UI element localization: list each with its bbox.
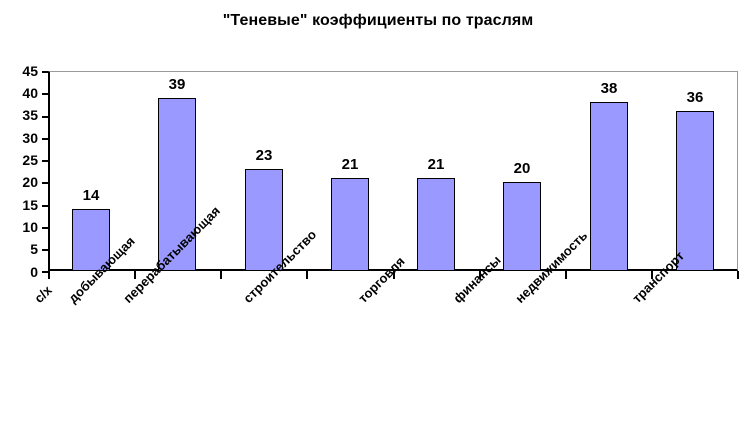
x-tick-mark <box>306 271 308 279</box>
y-tick-label: 20 <box>0 175 38 189</box>
y-tick-mark <box>42 205 48 207</box>
y-tick-mark <box>42 182 48 184</box>
y-tick-mark <box>42 227 48 229</box>
y-tick-label: 35 <box>0 108 38 122</box>
bar-value-label: 23 <box>234 148 294 163</box>
bar-value-label: 36 <box>665 90 725 105</box>
bar-7 <box>590 102 628 271</box>
bar-value-label: 20 <box>492 161 552 176</box>
bar-6 <box>503 182 541 271</box>
chart-title: "Теневые" коэффициенты по траслям <box>0 12 756 30</box>
y-tick-mark <box>42 116 48 118</box>
bar-value-label: 39 <box>147 77 207 92</box>
y-tick-label: 5 <box>0 242 38 256</box>
bar-4 <box>331 178 369 271</box>
chart-container: "Теневые" коэффициенты по траслям 45 40 … <box>0 0 756 444</box>
bar-5 <box>417 178 455 271</box>
x-tick-mark <box>565 271 567 279</box>
y-tick-mark <box>42 71 48 73</box>
bar-value-label: 14 <box>61 188 121 203</box>
x-tick-mark <box>737 271 739 279</box>
bar-value-label: 21 <box>320 157 380 172</box>
y-tick-label: 15 <box>0 198 38 212</box>
y-tick-label: 40 <box>0 86 38 100</box>
y-axis: 45 40 35 30 25 20 15 10 5 0 <box>0 0 44 444</box>
x-tick-mark <box>220 271 222 279</box>
y-tick-label: 25 <box>0 153 38 167</box>
x-tick-mark <box>134 271 136 279</box>
y-tick-mark <box>42 249 48 251</box>
bar-value-label: 38 <box>579 81 639 96</box>
y-tick-label: 30 <box>0 131 38 145</box>
y-tick-label: 45 <box>0 64 38 78</box>
bar-8 <box>676 111 714 271</box>
y-tick-label: 0 <box>0 265 38 279</box>
y-tick-mark <box>42 93 48 95</box>
y-tick-label: 10 <box>0 220 38 234</box>
x-tick-mark <box>48 271 50 279</box>
y-tick-mark <box>42 138 48 140</box>
bar-3 <box>245 169 283 271</box>
plot-area <box>48 71 738 271</box>
bar-value-label: 21 <box>406 157 466 172</box>
y-tick-mark <box>42 160 48 162</box>
